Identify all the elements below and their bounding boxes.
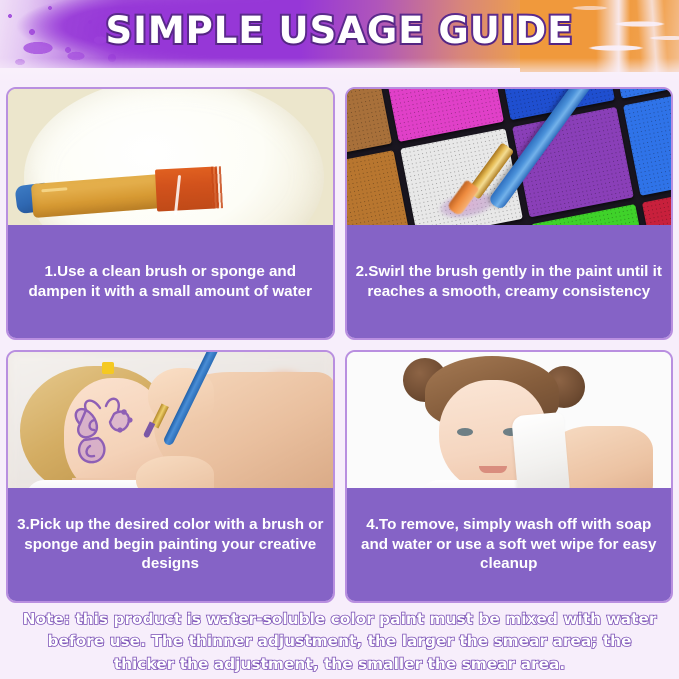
step-1-photo: [8, 89, 333, 229]
header-banner: SIMPLE USAGE GUIDE: [0, 0, 679, 84]
child-eye-left: [457, 428, 473, 436]
usage-guide-infographic: SIMPLE USAGE GUIDE 1.Use a clean brush o…: [0, 0, 679, 679]
butterfly-face-paint-icon: [70, 390, 142, 472]
step-4-photo: [347, 352, 672, 492]
product-note: Note: this product is water-soluble colo…: [0, 608, 679, 675]
step-1-caption: 1.Use a clean brush or sponge and dampen…: [8, 225, 333, 338]
step-4-caption: 4.To remove, simply wash off with soap a…: [347, 488, 672, 601]
palette-tray: [347, 89, 672, 229]
step-2-photo: [347, 89, 672, 229]
steps-grid: 1.Use a clean brush or sponge and dampen…: [6, 87, 673, 603]
step-card-1: 1.Use a clean brush or sponge and dampen…: [6, 87, 335, 340]
face-painting-image: [8, 352, 333, 492]
step-3-caption: 3.Pick up the desired color with a brush…: [8, 488, 333, 601]
brush-bristles-icon: [155, 166, 219, 211]
palette-pan: [347, 151, 411, 229]
step-3-photo: [8, 352, 333, 492]
color-palette-image: [347, 89, 672, 229]
hair-clip-icon: [102, 362, 114, 374]
adult-steadying-hand-icon: [136, 456, 214, 492]
banner-fade: [0, 58, 679, 84]
step-card-3: 3.Pick up the desired color with a brush…: [6, 350, 335, 603]
page-title: SIMPLE USAGE GUIDE: [0, 9, 679, 52]
brush-in-water-image: [8, 89, 333, 229]
step-card-2: 2.Swirl the brush gently in the paint un…: [345, 87, 674, 340]
wet-wipe-tissue-icon: [511, 412, 570, 492]
step-2-caption: 2.Swirl the brush gently in the paint un…: [347, 225, 672, 338]
wiping-face-image: [347, 352, 672, 492]
child-mouth: [479, 466, 507, 473]
step-card-4: 4.To remove, simply wash off with soap a…: [345, 350, 674, 603]
